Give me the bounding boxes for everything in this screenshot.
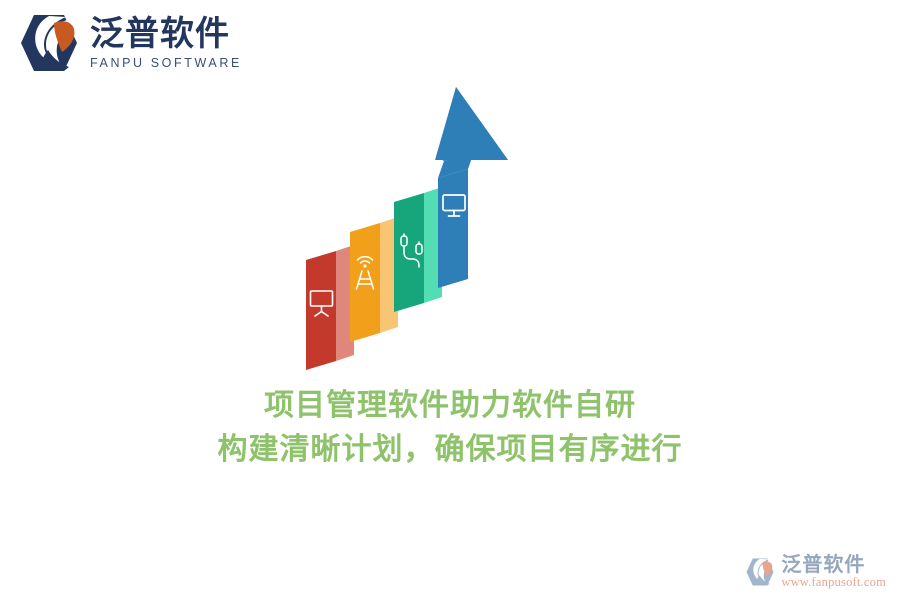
brand-name-cn: 泛普软件 — [90, 17, 242, 53]
watermark: 泛普软件 www.fanpusoft.com — [745, 553, 886, 590]
slide-canvas: 泛普软件 FANPU SOFTWARE — [0, 0, 900, 600]
step-block-1 — [306, 245, 354, 370]
watermark-logo-icon — [745, 557, 775, 587]
watermark-text: 泛普软件 www.fanpusoft.com — [781, 553, 886, 590]
brand-logo: 泛普软件 FANPU SOFTWARE — [18, 12, 242, 74]
step-block-2 — [350, 217, 398, 342]
watermark-url: www.fanpusoft.com — [781, 575, 886, 590]
arrow-block-4 — [435, 87, 508, 288]
growth-arrow-infographic — [288, 82, 544, 372]
headline-line-1: 项目管理软件助力软件自研 — [0, 384, 900, 428]
fanpu-logo-mark-icon — [18, 12, 80, 74]
brand-name-en: FANPU SOFTWARE — [90, 56, 242, 71]
step-block-3 — [394, 187, 442, 312]
headline-block: 项目管理软件助力软件自研 构建清晰计划，确保项目有序进行 — [0, 384, 900, 472]
headline-line-2: 构建清晰计划，确保项目有序进行 — [0, 428, 900, 472]
brand-wordmark: 泛普软件 FANPU SOFTWARE — [90, 15, 242, 72]
watermark-name-cn: 泛普软件 — [781, 553, 886, 575]
